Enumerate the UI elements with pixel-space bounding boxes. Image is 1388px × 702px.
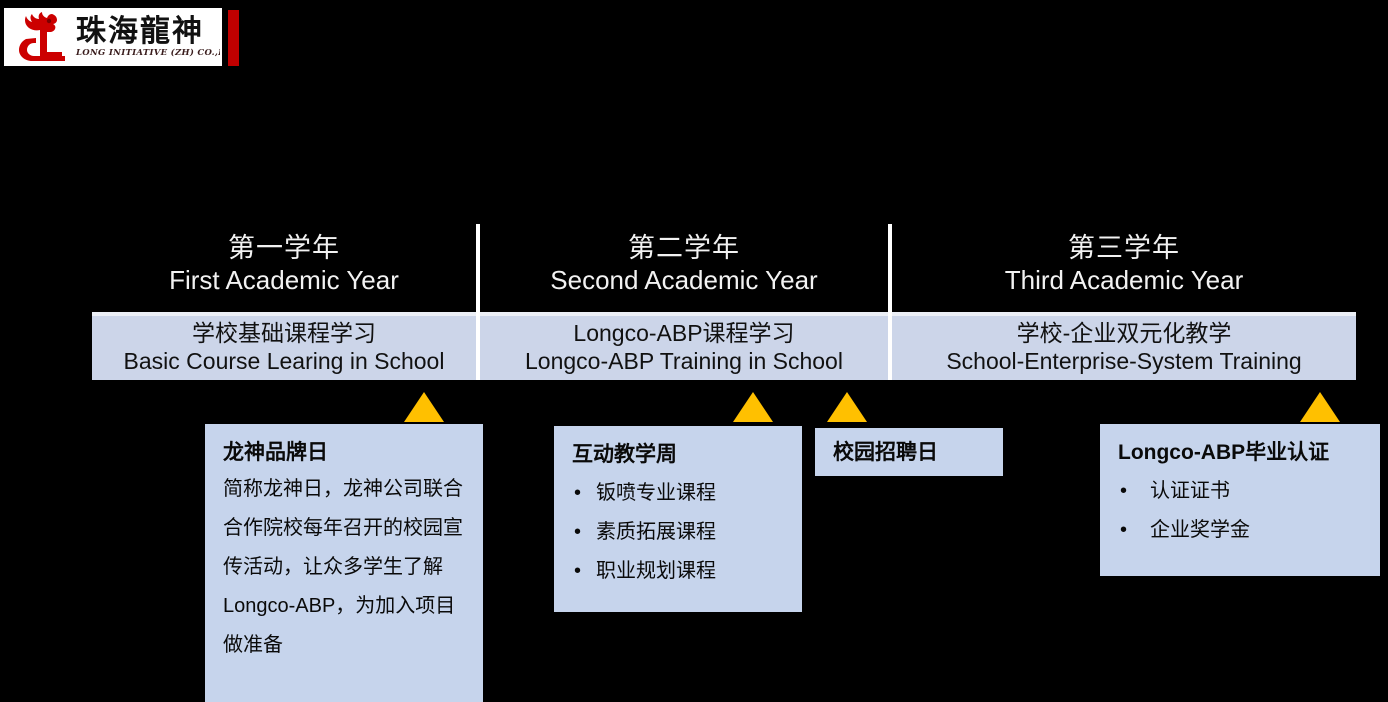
year-label-en: First Academic Year bbox=[92, 265, 476, 297]
year-header-second: 第二学年 Second Academic Year bbox=[480, 232, 888, 302]
logo-company-name-en: LONG INITIATIVE (ZH) CO.,LTD. bbox=[76, 48, 222, 58]
bullet-label: 企业奖学金 bbox=[1150, 511, 1250, 550]
list-item: • 企业奖学金 bbox=[1116, 511, 1364, 550]
list-item: • 认证证书 bbox=[1116, 472, 1364, 511]
company-logo: 珠海龍神 LONG INITIATIVE (ZH) CO.,LTD. bbox=[4, 8, 222, 66]
phase-banner-second-year: Longco-ABP课程学习 Longco-ABP Training in Sc… bbox=[480, 312, 888, 380]
bullet-dot-icon: • bbox=[1116, 511, 1150, 550]
banner-label-cn: Longco-ABP课程学习 bbox=[480, 320, 888, 348]
card-title: 校园招聘日 bbox=[833, 438, 987, 468]
card-title: Longco-ABP毕业认证 bbox=[1118, 438, 1364, 468]
bullet-dot-icon: • bbox=[570, 552, 596, 591]
arrow-up-icon-graduation-cert bbox=[1300, 392, 1340, 422]
dragon-l-logo-icon bbox=[12, 11, 74, 63]
year-header-third: 第三学年 Third Academic Year bbox=[892, 232, 1356, 302]
year-label-en: Third Academic Year bbox=[892, 265, 1356, 297]
banner-label-en: Basic Course Learing in School bbox=[92, 348, 476, 376]
year-label-cn: 第一学年 bbox=[92, 232, 476, 265]
logo-red-accent-bar bbox=[228, 10, 239, 66]
list-item: • 职业规划课程 bbox=[570, 552, 786, 591]
card-title: 龙神品牌日 bbox=[223, 438, 467, 468]
card-title: 互动教学周 bbox=[572, 440, 786, 470]
bullet-label: 素质拓展课程 bbox=[596, 513, 716, 552]
bullet-label: 认证证书 bbox=[1150, 472, 1230, 511]
card-bullet-list: • 认证证书 • 企业奖学金 bbox=[1116, 472, 1364, 550]
list-item: • 素质拓展课程 bbox=[570, 513, 786, 552]
logo-text: 珠海龍神 LONG INITIATIVE (ZH) CO.,LTD. bbox=[76, 16, 222, 59]
year-label-cn: 第二学年 bbox=[480, 232, 888, 265]
arrow-up-icon-brand-day bbox=[404, 392, 444, 422]
list-item: • 钣喷专业课程 bbox=[570, 474, 786, 513]
banner-label-en: School-Enterprise-System Training bbox=[892, 348, 1356, 376]
card-brand-day: 龙神品牌日 简称龙神日，龙神公司联合合作院校每年召开的校园宣传活动，让众多学生了… bbox=[205, 424, 483, 702]
arrow-up-icon-recruitment-day bbox=[827, 392, 867, 422]
year-header-first: 第一学年 First Academic Year bbox=[92, 232, 476, 302]
card-interactive-teaching-week: 互动教学周 • 钣喷专业课程 • 素质拓展课程 • 职业规划课程 bbox=[554, 426, 802, 612]
logo-company-name-cn: 珠海龍神 bbox=[76, 16, 222, 48]
bullet-dot-icon: • bbox=[570, 474, 596, 513]
banner-label-cn: 学校-企业双元化教学 bbox=[892, 320, 1356, 348]
bullet-label: 钣喷专业课程 bbox=[596, 474, 716, 513]
banner-label-cn: 学校基础课程学习 bbox=[92, 320, 476, 348]
bullet-dot-icon: • bbox=[1116, 472, 1150, 511]
logo-inner: 珠海龍神 LONG INITIATIVE (ZH) CO.,LTD. bbox=[8, 12, 218, 62]
card-bullet-list: • 钣喷专业课程 • 素质拓展课程 • 职业规划课程 bbox=[570, 474, 786, 591]
phase-banner-third-year: 学校-企业双元化教学 School-Enterprise-System Trai… bbox=[892, 312, 1356, 380]
banner-label-en: Longco-ABP Training in School bbox=[480, 348, 888, 376]
card-paragraph: 简称龙神日，龙神公司联合合作院校每年召开的校园宣传活动，让众多学生了解Longc… bbox=[223, 470, 465, 665]
bullet-dot-icon: • bbox=[570, 513, 596, 552]
year-label-cn: 第三学年 bbox=[892, 232, 1356, 265]
phase-banner-first-year: 学校基础课程学习 Basic Course Learing in School bbox=[92, 312, 476, 380]
card-graduation-certification: Longco-ABP毕业认证 • 认证证书 • 企业奖学金 bbox=[1100, 424, 1380, 576]
bullet-label: 职业规划课程 bbox=[596, 552, 716, 591]
arrow-up-icon-teaching-week bbox=[733, 392, 773, 422]
card-campus-recruitment-day: 校园招聘日 bbox=[815, 428, 1003, 476]
year-label-en: Second Academic Year bbox=[480, 265, 888, 297]
